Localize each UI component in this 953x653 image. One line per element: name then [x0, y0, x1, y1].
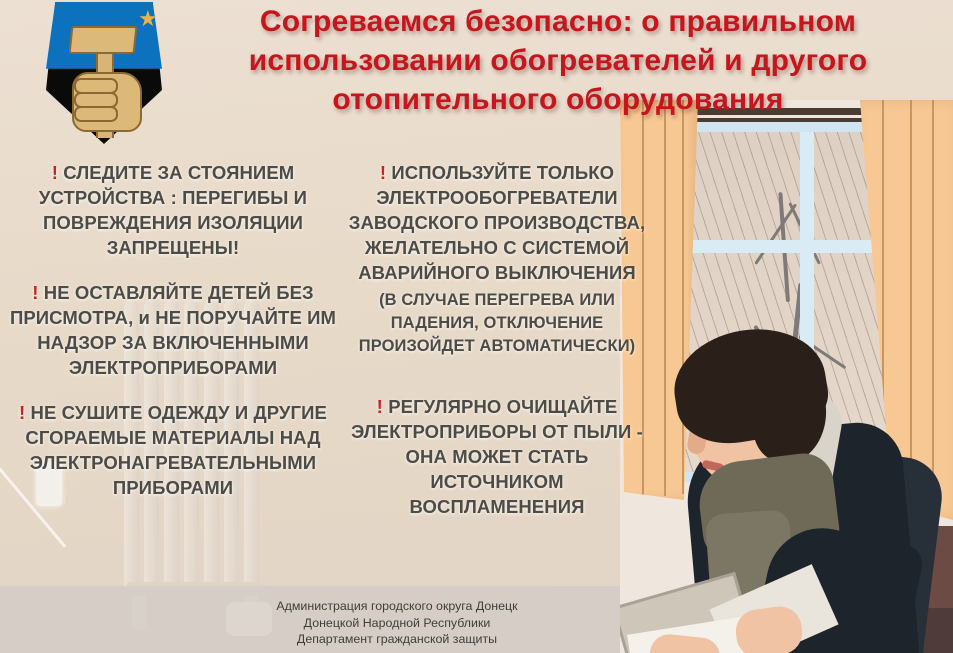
footer-line-2: Донецкой Народной Республики	[232, 615, 562, 632]
footer-line-3: Департамент гражданской защиты	[232, 631, 562, 648]
tips-column-middle: ! ИСПОЛЬЗУЙТЕ ТОЛЬКО ЭЛЕКТРООБОГРЕВАТЕЛИ…	[348, 160, 646, 539]
tip-item: ! НЕ СУШИТЕ ОДЕЖДУ И ДРУГИЕ СГОРАЕМЫЕ МА…	[4, 400, 342, 500]
exclamation-icon: !	[32, 282, 38, 303]
footer-credits: Администрация городского округа Донецк Д…	[232, 598, 562, 648]
tip-item: ! ИСПОЛЬЗУЙТЕ ТОЛЬКО ЭЛЕКТРООБОГРЕВАТЕЛИ…	[348, 160, 646, 285]
tip-text: ИСПОЛЬЗУЙТЕ ТОЛЬКО ЭЛЕКТРООБОГРЕВАТЕЛИ З…	[349, 162, 645, 283]
tip-text: СЛЕДИТЕ ЗА СТОЯНИЕМ УСТРОЙСТВА : ПЕРЕГИБ…	[39, 162, 307, 258]
donetsk-coat-of-arms-icon	[46, 2, 162, 144]
tips-column-left: ! СЛЕДИТЕ ЗА СТОЯНИЕМ УСТРОЙСТВА : ПЕРЕГ…	[4, 160, 342, 520]
tip-text: НЕ СУШИТЕ ОДЕЖДУ И ДРУГИЕ СГОРАЕМЫЕ МАТЕ…	[25, 402, 327, 498]
title-line-1: Согреваемся безопасно: о правильном	[168, 2, 948, 41]
tip-text: РЕГУЛЯРНО ОЧИЩАЙТЕ ЭЛЕКТРОПРИБОРЫ ОТ ПЫЛ…	[351, 396, 643, 517]
hammer-head	[69, 26, 138, 54]
exclamation-icon: !	[52, 162, 58, 183]
exclamation-icon: !	[377, 396, 383, 417]
poster-title: Согреваемся безопасно: о правильном испо…	[168, 2, 948, 119]
man-reading	[620, 336, 953, 653]
footer-line-1: Администрация городского округа Донецк	[232, 598, 562, 615]
tip-item: ! СЛЕДИТЕ ЗА СТОЯНИЕМ УСТРОЙСТВА : ПЕРЕГ…	[4, 160, 342, 260]
tip-note: (В СЛУЧАЕ ПЕРЕГРЕВА ИЛИ ПАДЕНИЯ, ОТКЛЮЧЕ…	[348, 289, 646, 358]
title-line-3: отопительного оборудования	[168, 80, 948, 119]
illustration-scene	[620, 100, 953, 653]
tip-item: ! РЕГУЛЯРНО ОЧИЩАЙТЕ ЭЛЕКТРОПРИБОРЫ ОТ П…	[348, 394, 646, 519]
tree-branch	[754, 203, 797, 264]
exclamation-icon: !	[19, 402, 25, 423]
exclamation-icon: !	[380, 162, 386, 183]
title-line-2: использовании обогревателей и другого	[168, 41, 948, 80]
tip-text: НЕ ОСТАВЛЯЙТЕ ДЕТЕЙ БЕЗ ПРИСМОТРА, и НЕ …	[10, 282, 336, 378]
poster-canvas: Согреваемся безопасно: о правильном испо…	[0, 0, 953, 653]
tip-item: ! НЕ ОСТАВЛЯЙТЕ ДЕТЕЙ БЕЗ ПРИСМОТРА, и Н…	[4, 280, 342, 380]
